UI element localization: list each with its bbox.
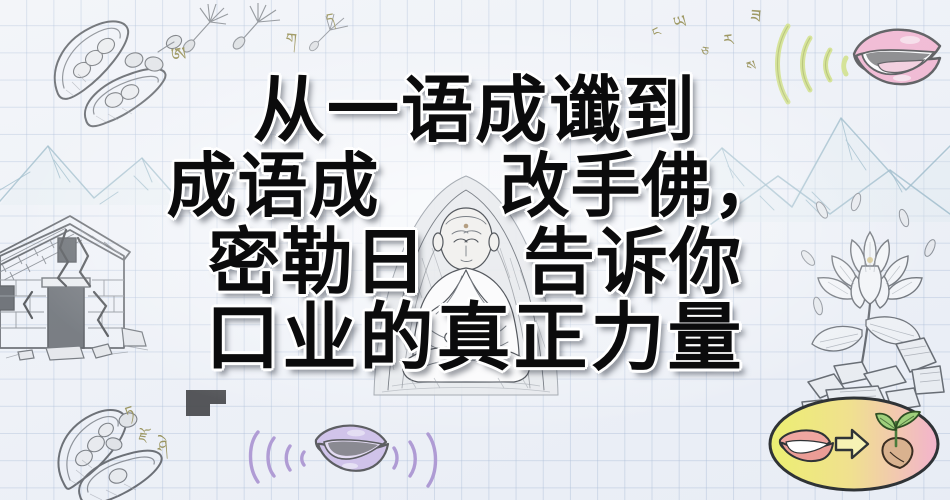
headline-block: 从一语成谶到 成语成改手佛， 密勒日告诉你 口业的真正力量 [0,72,950,376]
speech-becomes-seed-badge [766,388,944,496]
headline-line-3-right: 告诉你 [523,220,742,304]
headline-line-3: 密勒日告诉你 [0,224,950,300]
headline-line-2-left: 成语成 [167,145,380,227]
headline-line-4: 口业的真正力量 [0,300,950,376]
headline-line-2-right: 改手佛， [500,145,784,227]
headline-line-3-left: 密勒日 [208,220,427,304]
poster-canvas: 从一语成谶到 成语成改手佛， 密勒日告诉你 口业的真正力量 [0,0,950,500]
headline-line-2: 成语成改手佛， [0,148,950,224]
headline-line-1: 从一语成谶到 [0,72,950,148]
